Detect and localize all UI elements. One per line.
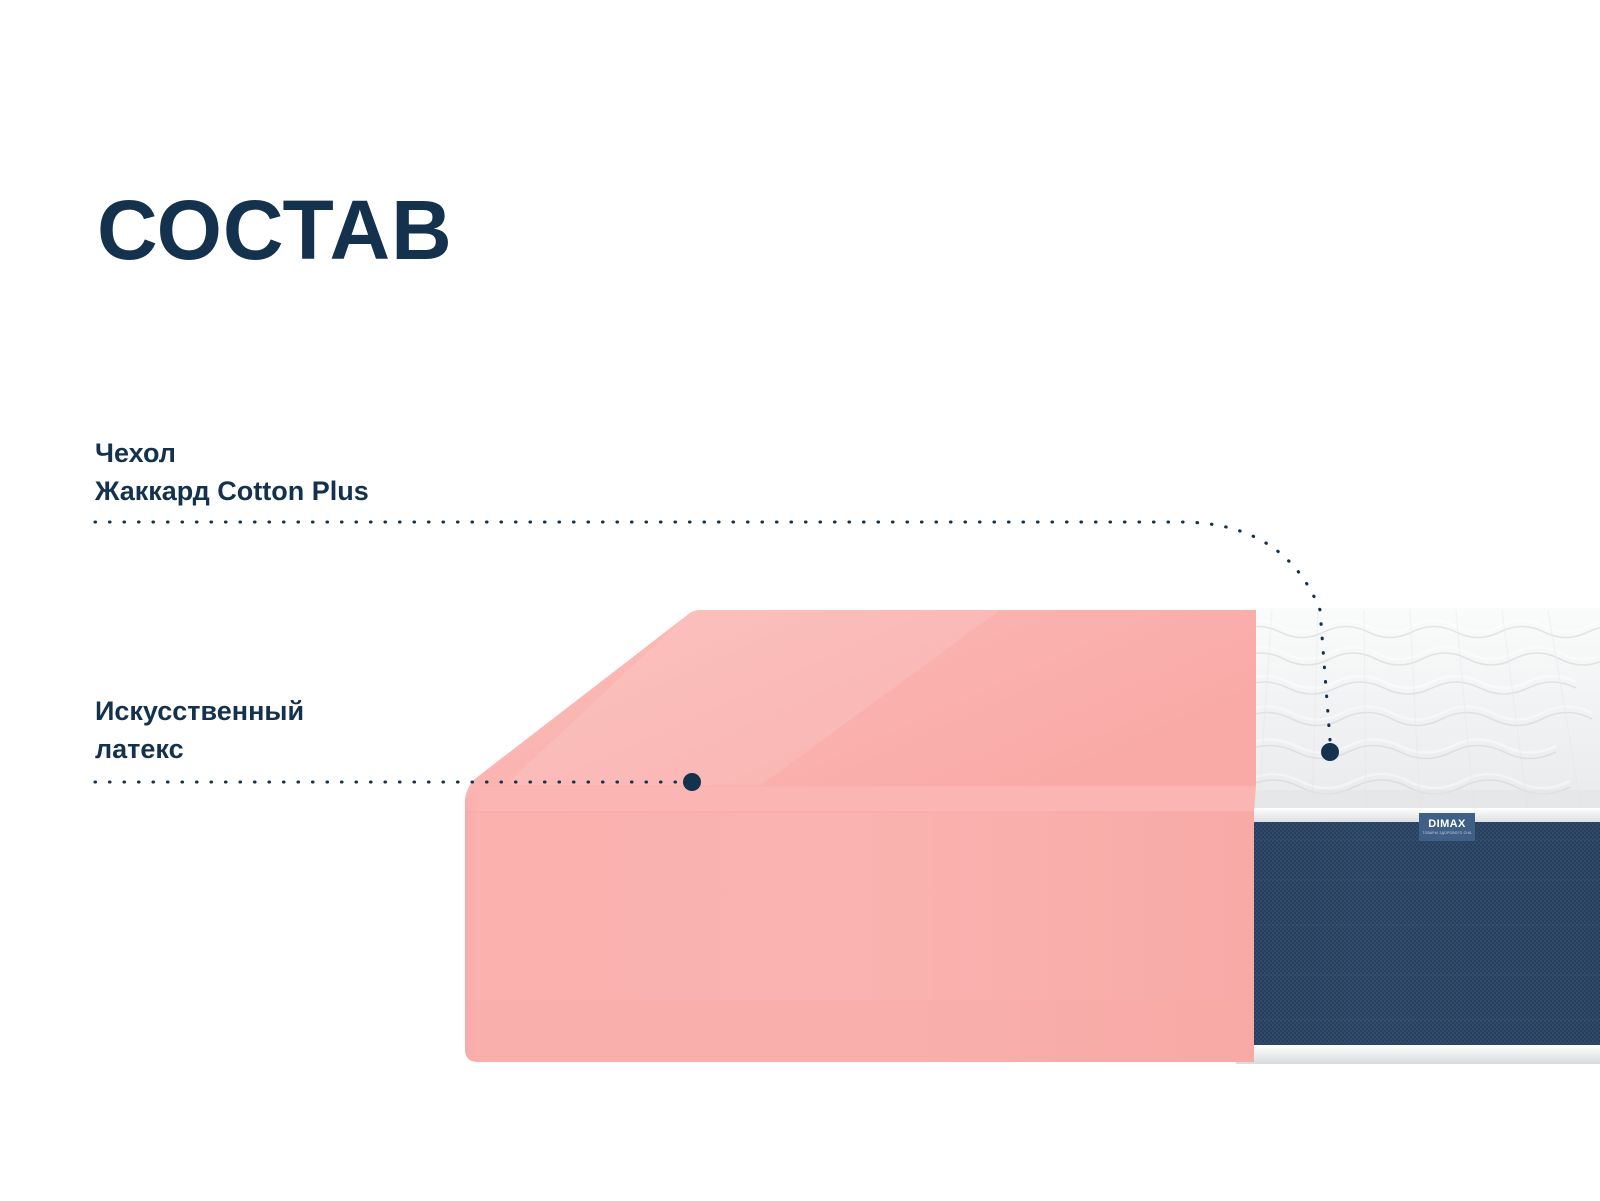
dimax-badge-tagline: ТОВАРЫ ЗДОРОВОГО СНА [1422,832,1471,835]
leader-endpoint-latex [683,773,701,791]
leader-endpoint-cover [1321,743,1339,761]
latex-block [465,610,1256,1062]
mattress-cover-quilted [1232,608,1600,812]
mattress-piping-top [1232,808,1600,824]
mattress-piping-bottom [1236,1045,1600,1064]
dimax-brand-badge: DIMAX ТОВАРЫ ЗДОРОВОГО СНА [1419,813,1475,841]
poster-canvas: СОСТАВ Чехол Жаккард Cotton Plus Искусст… [0,0,1600,1201]
mattress-illustration [0,0,1600,1201]
dimax-badge-name: DIMAX [1428,819,1465,830]
mattress-side-fabric [1234,822,1600,1047]
